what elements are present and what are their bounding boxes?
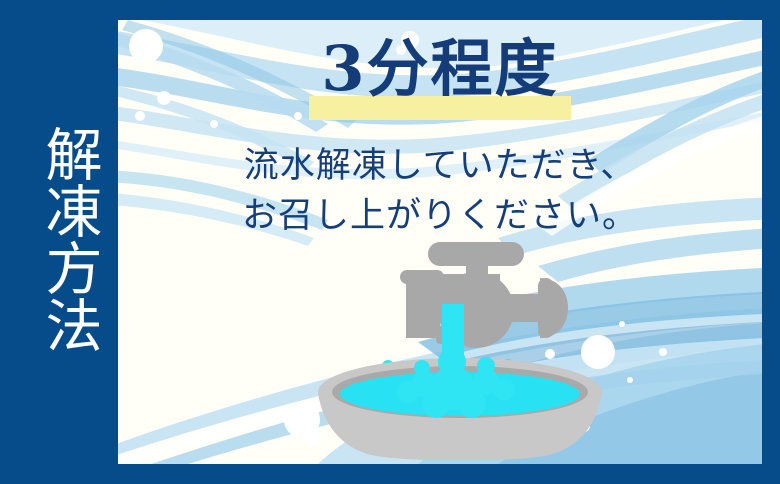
freezer-instruction-banner: 解凍方法 [0,0,780,484]
faucet-flange-edge [538,278,554,338]
instruction-text: 流水解凍していただき、 お召し上がりください。 [118,142,762,241]
water-stream-front [442,304,464,374]
instruction-line-2: お召し上がりください。 [118,192,762,242]
page-title: 3分程度 [321,32,558,105]
vertical-heading-thawing-method: 解凍方法 [26,116,98,362]
faucet-bowl-graphic [300,242,620,460]
content-panel: 3分程度 流水解凍していただき、 お召し上がりください。 [118,20,762,464]
instruction-line-1: 流水解凍していただき、 [118,142,762,192]
faucet-handle-knob [464,242,490,258]
headline-block: 3分程度 [118,36,762,103]
thawing-illustration [300,242,620,460]
faucet-pipe-cap [400,270,444,284]
